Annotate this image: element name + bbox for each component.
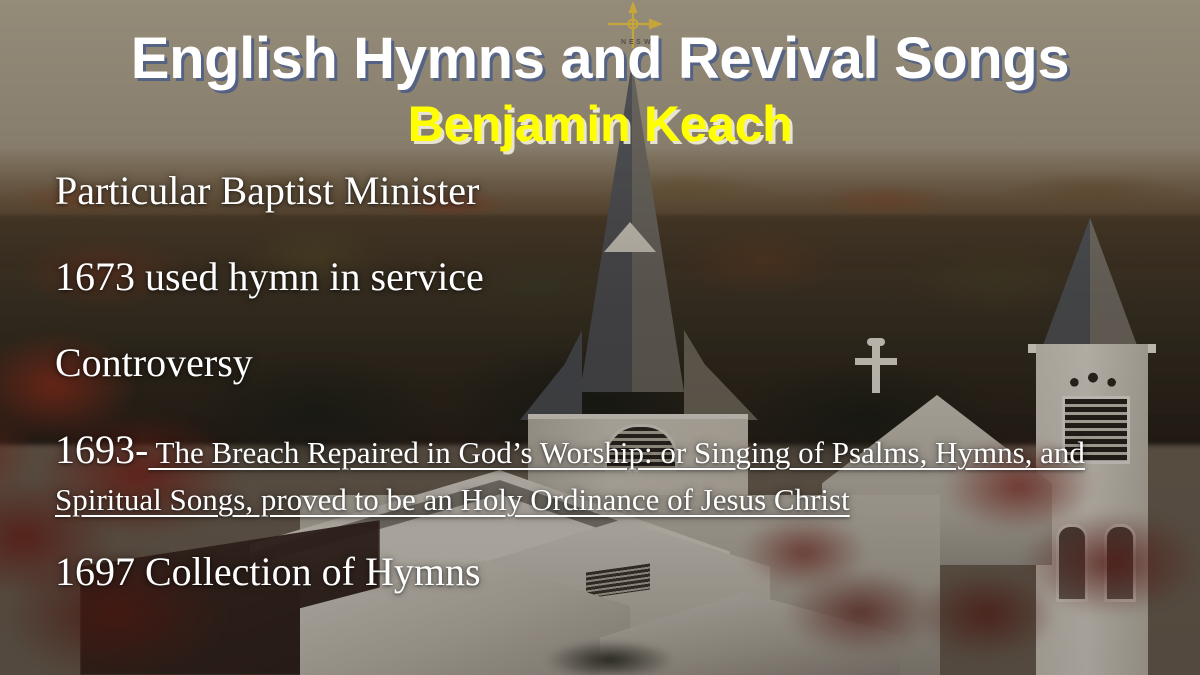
bullet-breach-1693-year: 1693- — [55, 427, 148, 472]
slide-subtitle: Benjamin Keach — [0, 96, 1200, 152]
slide-title: English Hymns and Revival Songs — [0, 28, 1200, 90]
bullet-breach-1693-title: The Breach Repaired in God’s Worship: or… — [55, 435, 1085, 517]
slide-content: English Hymns and Revival Songs Benjamin… — [0, 0, 1200, 675]
bullet-minister: Particular Baptist Minister — [55, 168, 1165, 214]
bullet-breach-1693: 1693- The Breach Repaired in God’s Worsh… — [55, 426, 1150, 523]
bullet-controversy: Controversy — [55, 340, 1165, 386]
bullet-hymn-1673: 1673 used hymn in service — [55, 254, 1165, 300]
slide-body: Particular Baptist Minister 1673 used hy… — [55, 168, 1165, 635]
bullet-collection-1697: 1697 Collection of Hymns — [55, 549, 1165, 595]
presentation-slide: N E S W — [0, 0, 1200, 675]
